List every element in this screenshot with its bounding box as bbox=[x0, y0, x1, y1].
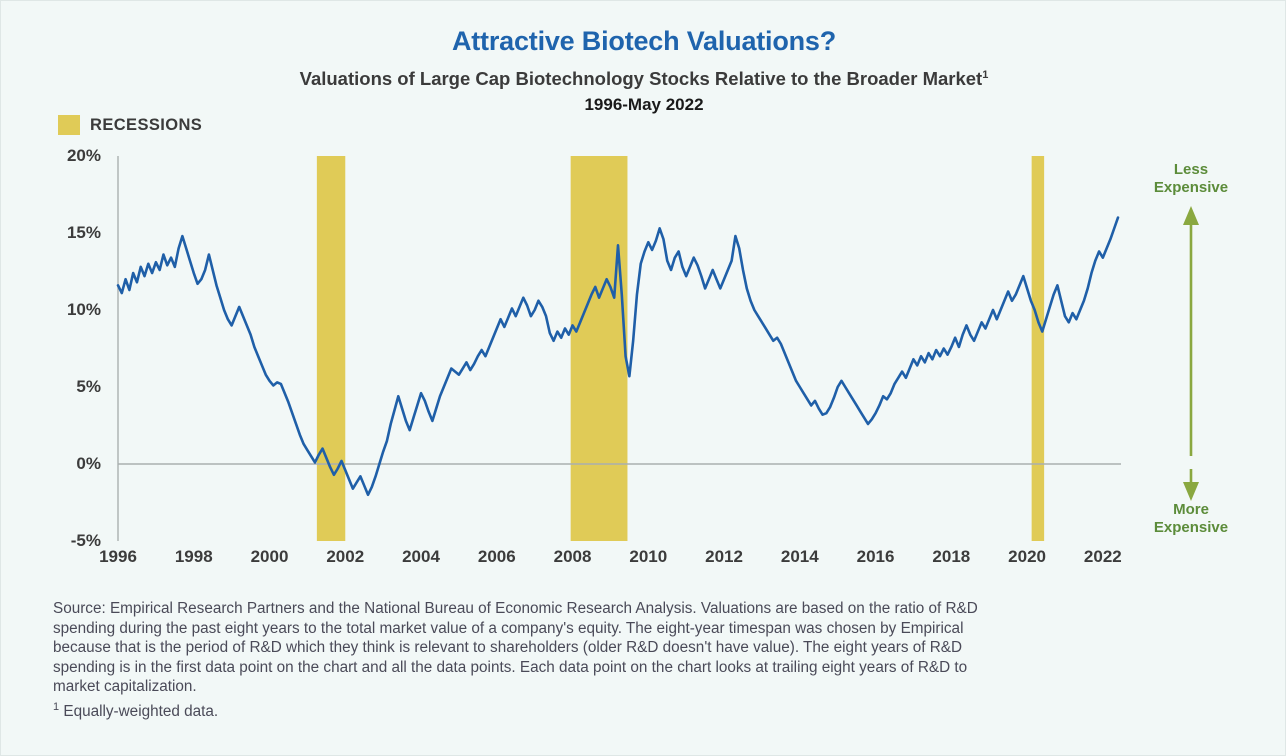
up-arrow-head-icon bbox=[1183, 206, 1199, 225]
x-tick-label: 2020 bbox=[1008, 547, 1046, 567]
annotation-more-expensive: More Expensive bbox=[1121, 501, 1261, 537]
chart-page: Attractive Biotech Valuations? Valuation… bbox=[0, 0, 1286, 756]
down-arrow-head-icon bbox=[1183, 482, 1199, 501]
x-tick-label: 2022 bbox=[1084, 547, 1122, 567]
footnote-block: Source: Empirical Research Partners and … bbox=[53, 599, 1243, 721]
recession-band bbox=[571, 156, 628, 541]
x-tick-label: 2010 bbox=[629, 547, 667, 567]
footnote-line-6: 1 Equally-weighted data. bbox=[53, 698, 1243, 722]
x-tick-label: 2006 bbox=[478, 547, 516, 567]
direction-arrows bbox=[1183, 206, 1199, 501]
x-tick-label: 2018 bbox=[932, 547, 970, 567]
x-tick-label: 1998 bbox=[175, 547, 213, 567]
footnote-line-5: market capitalization. bbox=[53, 677, 1243, 697]
annotation-less-line2: Expensive bbox=[1121, 179, 1261, 197]
footnote-line-4: spending is in the first data point on t… bbox=[53, 658, 1243, 678]
y-tick-label: 20% bbox=[39, 146, 101, 166]
y-tick-label: 0% bbox=[39, 454, 101, 474]
y-tick-label: 10% bbox=[39, 300, 101, 320]
y-tick-label: 15% bbox=[39, 223, 101, 243]
footnote-line-1: Source: Empirical Research Partners and … bbox=[53, 599, 1243, 619]
chart-plot bbox=[1, 1, 1286, 591]
x-tick-label: 1996 bbox=[99, 547, 137, 567]
x-tick-label: 2004 bbox=[402, 547, 440, 567]
x-tick-label: 2012 bbox=[705, 547, 743, 567]
annotation-less-expensive: Less Expensive bbox=[1121, 161, 1261, 197]
x-tick-label: 2002 bbox=[326, 547, 364, 567]
footnote-line-3: because that is the period of R&D which … bbox=[53, 638, 1243, 658]
recession-bands bbox=[317, 156, 1044, 541]
recession-band bbox=[317, 156, 345, 541]
annotation-less-line1: Less bbox=[1121, 161, 1261, 179]
annotation-more-line1: More bbox=[1121, 501, 1261, 519]
y-tick-label: -5% bbox=[39, 531, 101, 551]
footnote-line-2: spending during the past eight years to … bbox=[53, 619, 1243, 639]
annotation-more-line2: Expensive bbox=[1121, 519, 1261, 537]
footnote-line-6-text: Equally-weighted data. bbox=[59, 703, 218, 720]
recession-band bbox=[1032, 156, 1045, 541]
x-tick-label: 2008 bbox=[554, 547, 592, 567]
chart-area: 20%15%10%5%0%-5% 19961998200020022004200… bbox=[1, 1, 1286, 591]
y-tick-label: 5% bbox=[39, 377, 101, 397]
x-tick-label: 2016 bbox=[857, 547, 895, 567]
x-tick-label: 2014 bbox=[781, 547, 819, 567]
x-tick-label: 2000 bbox=[251, 547, 289, 567]
